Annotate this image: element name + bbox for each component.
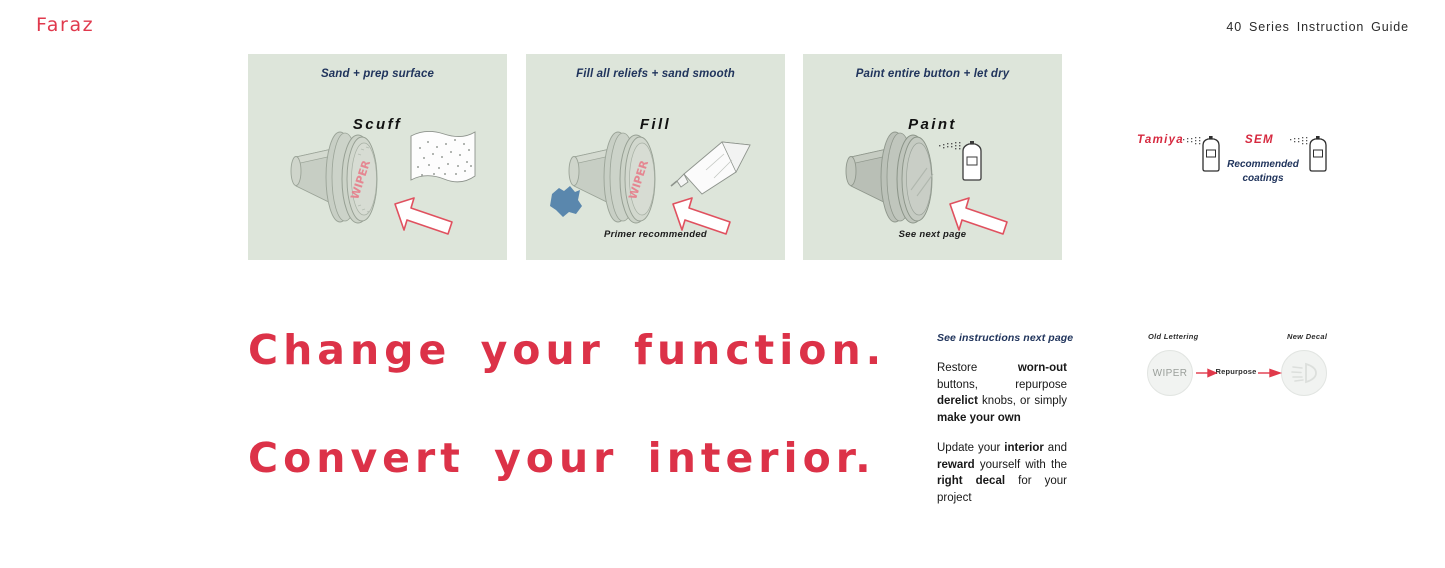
spray-can-icon [939,141,981,180]
step-panel-paint: Paint entire button + let dry Paint See … [803,54,1062,260]
hero-heading: Convert your interior. [248,434,876,482]
paint-sheen [911,168,933,196]
spray-can-icon [1183,136,1219,171]
panel-heading: Paint entire button + let dry [803,68,1062,80]
spray-mist-dots [1183,137,1200,144]
panel-heading: Fill all reliefs + sand smooth [526,68,785,80]
step-panel-fill: Fill all reliefs + sand smooth Fill Prim… [526,54,785,260]
hero-body-text: Restore worn-out buttons, repurpose dere… [937,360,1067,426]
panel-footer: Primer recommended [526,229,785,240]
spray-can-icon [1290,136,1326,171]
putty-tube-icon [671,142,750,194]
knob-illustration [846,132,933,223]
arrow-right-icon [1196,370,1216,377]
knob-lettering: WIPER [626,158,651,201]
knob-illustration [291,132,377,223]
recommended-coatings-group: Tamiya SEM Recommended coatings [1125,128,1355,198]
knob-lettering: WIPER [348,158,373,201]
panel-step-label: Fill [526,116,785,133]
coating-can-icons [1125,128,1355,198]
hero-heading: Change your function. [248,326,886,374]
hero-kicker[interactable]: See instructions next page [937,332,1073,344]
brand-logo[interactable]: Faraz [36,14,94,36]
decal-flow-arrows [1140,332,1340,412]
sandpaper-sheet-icon [411,131,475,181]
panel-footer: See next page [803,229,1062,240]
document-title: 40 Series Instruction Guide [1226,20,1409,34]
hero-body-text: Update your interior and reward yourself… [937,440,1067,506]
arrow-right-icon [1258,370,1280,377]
panel-step-label: Scuff [248,116,507,133]
filler-blob-icon [550,186,582,217]
step-panel-scuff: Sand + prep surface Scuff WIPER [248,54,507,260]
spray-mist-dots [939,142,960,149]
panel-heading: Sand + prep surface [248,68,507,80]
knob-tick-marks [358,147,370,212]
hero-row-interior: Convert your interior. Update your inter… [0,428,1445,514]
arrow-up-left-icon [395,198,452,234]
spray-mist-dots [1290,137,1307,144]
knob-illustration [569,132,655,223]
panel-step-label: Paint [803,116,1062,133]
decal-repurpose-diagram: Old Lettering New Decal WIPER Repurpose [1140,332,1340,412]
panel-artwork-scuff: WIPER [248,54,507,260]
